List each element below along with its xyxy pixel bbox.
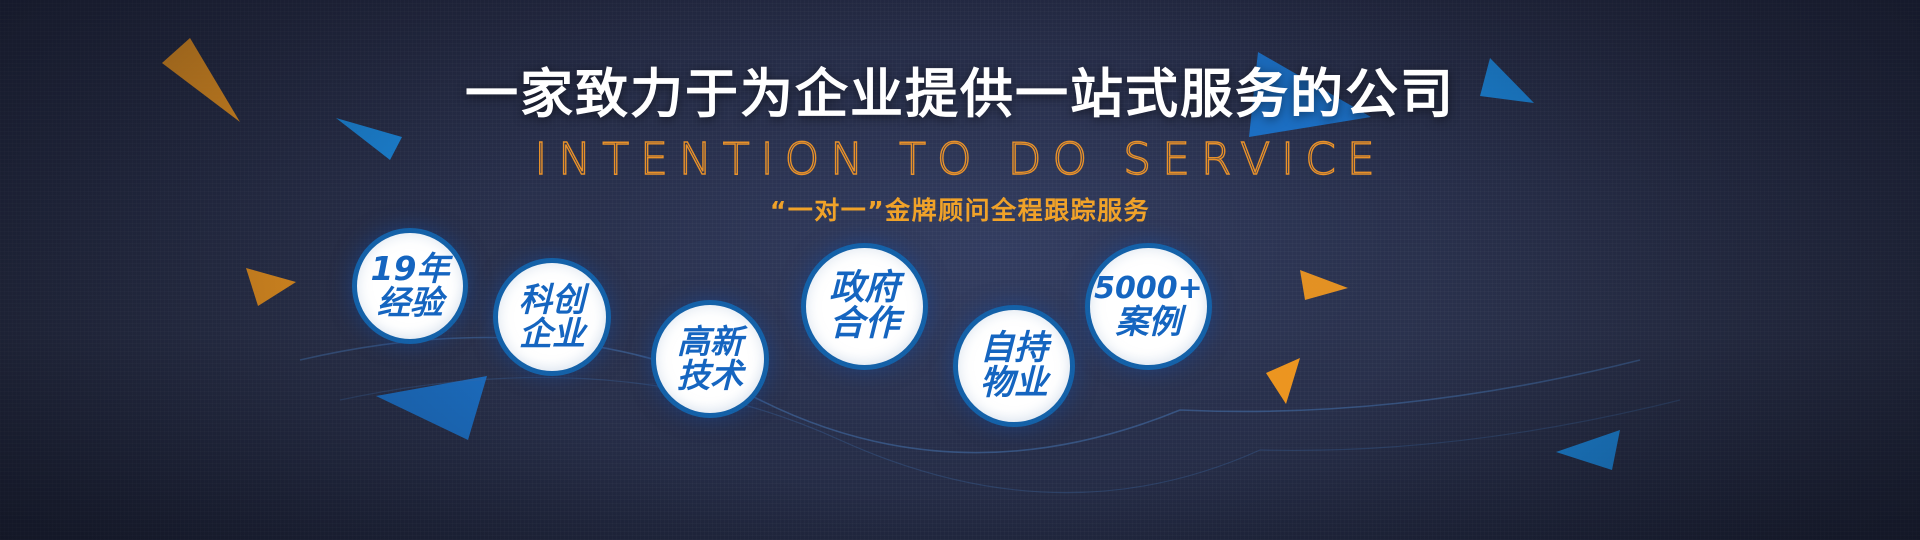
bubble-line-1: 政府 [829, 271, 899, 307]
triangle-blue-bottom-right [1556, 430, 1620, 470]
feature-bubble-government-cooperation[interactable]: 政府 合作 [801, 243, 928, 370]
triangle-orange-mid-right [1300, 270, 1348, 300]
bubble-line-2: 企业 [519, 317, 585, 351]
feature-bubble-self-owned-property[interactable]: 自持 物业 [953, 305, 1075, 427]
bubble-line-1: 科创 [519, 283, 585, 317]
bubble-line-1: 自持 [980, 331, 1048, 366]
bubble-line-1: 高新 [677, 325, 743, 359]
bubble-line-1: 19年 [371, 252, 450, 286]
subtitle-english: INTENTION TO DO SERVICE [0, 138, 1920, 182]
triangle-orange-mid-left [246, 268, 296, 306]
tagline: “一对一”金牌顾问全程跟踪服务 [0, 198, 1920, 223]
bubble-line-2: 物业 [980, 366, 1048, 401]
bubble-line-2: 案例 [1116, 305, 1182, 339]
feature-bubble-experience[interactable]: 19年 经验 [352, 228, 468, 344]
feature-bubble-tech-innovation[interactable]: 科创 企业 [493, 258, 611, 376]
page-title: 一家致力于为企业提供一站式服务的公司 [0, 68, 1920, 121]
triangle-orange-bottom-right [1266, 358, 1300, 404]
bubble-line-2: 经验 [377, 286, 443, 320]
feature-bubble-case-count[interactable]: 5000+ 案例 [1085, 243, 1212, 370]
bubble-line-1: 5000+ [1094, 274, 1203, 305]
promotional-banner: 一家致力于为企业提供一站式服务的公司 INTENTION TO DO SERVI… [0, 0, 1920, 540]
bubble-line-2: 合作 [829, 307, 899, 343]
feature-bubble-high-tech[interactable]: 高新 技术 [651, 300, 769, 418]
bubble-line-2: 技术 [677, 359, 743, 393]
triangle-blue-bottom-left [376, 376, 487, 440]
